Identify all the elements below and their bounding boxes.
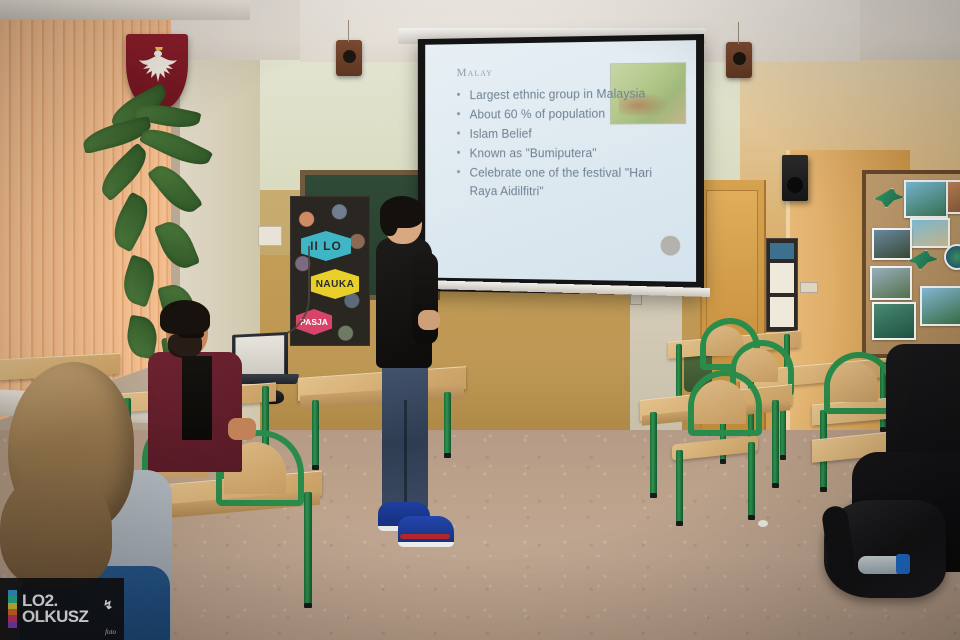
hummingbird-cutout-icon [908, 250, 938, 270]
presenter-shoe [398, 516, 454, 547]
poster-badge-nauka: NAUKA [307, 269, 363, 299]
classroom-photo: II LO NAUKA PASJA Malay [0, 0, 960, 640]
light-switch[interactable] [800, 282, 818, 293]
presenter-shoe-stripe [400, 534, 450, 539]
wall-speaker-icon [336, 40, 362, 76]
projection-screen: Malay Largest ethnic group in Malaysia A… [418, 34, 704, 296]
speaker-wire [348, 20, 349, 42]
seated-teacher-hand [228, 418, 256, 440]
desk-leg [676, 344, 682, 400]
presenter-hair-side [380, 206, 398, 236]
slide-bullet: Islam Belief [453, 124, 663, 144]
hummingbird-cutout-icon [874, 188, 904, 208]
slide-decoration-dot [661, 236, 681, 256]
chair-leg [748, 442, 755, 516]
desk-leg [650, 412, 657, 494]
slide-title: Malay [457, 65, 493, 80]
chair-panel [694, 380, 746, 424]
desk-leg [772, 400, 779, 484]
bottle-cap [896, 554, 910, 574]
watermark-signature: foto [105, 628, 116, 636]
student-boy-hair [0, 470, 112, 588]
slide-bullet: Known as "Bumiputera" [453, 144, 663, 163]
logo-color-bars [8, 590, 17, 628]
wall-speaker-icon [726, 42, 752, 78]
watermark-mark: ↯ [103, 598, 113, 612]
desk-leg [312, 400, 319, 466]
pa-speaker-icon [782, 155, 808, 201]
seated-teacher-hair [160, 300, 210, 334]
speaker-wire [738, 22, 739, 44]
blinds-rail [0, 0, 250, 20]
watermark-line2: OLKUSZ [22, 609, 88, 625]
slide-bullet: Largest ethnic group in Malaysia [453, 84, 663, 105]
floor-litter [758, 520, 768, 527]
watermark-text: LO2. OLKUSZ [22, 593, 88, 624]
chair-leg [676, 450, 683, 522]
slide-bullet-list: Largest ethnic group in Malaysia About 6… [453, 84, 663, 202]
seated-teacher-shirt [182, 356, 212, 440]
desk-leg [304, 492, 312, 604]
cork-noticeboard [862, 170, 960, 358]
presenter-hands [418, 310, 440, 330]
presenter-arm [412, 252, 438, 344]
desk-leg [444, 392, 451, 454]
slide-bullet: Celebrate one of the festival "Hari Raya… [453, 164, 663, 202]
small-noticeboard [766, 238, 798, 332]
watermark-logo: LO2. OLKUSZ ↯ foto [0, 578, 124, 640]
chair-panel [830, 362, 878, 402]
slide-bullet: About 60 % of population [453, 104, 663, 124]
wall-note [258, 226, 282, 246]
laptop-screen [235, 335, 284, 374]
presenter-leg-seam [404, 400, 407, 510]
slide-surface: Malay Largest ethnic group in Malaysia A… [425, 40, 696, 282]
